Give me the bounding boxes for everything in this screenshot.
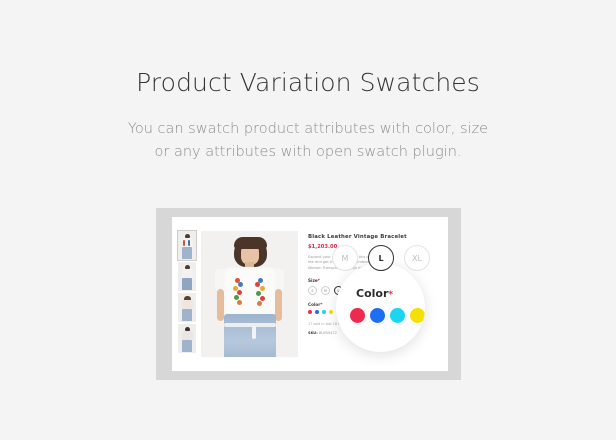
model-arm-right bbox=[275, 289, 282, 321]
thumb-model-jeans-icon bbox=[182, 278, 192, 290]
header: Product Variation Swatches You can swatc… bbox=[0, 0, 616, 164]
color-required-mark: * bbox=[320, 302, 322, 307]
model-hair-front bbox=[234, 237, 267, 249]
thumb-embroidery-icon bbox=[188, 240, 190, 246]
model-tshirt bbox=[223, 267, 277, 316]
thumb-model-jeans-icon bbox=[182, 309, 192, 321]
thumb-embroidery-icon bbox=[183, 240, 185, 246]
color-swatch-blue[interactable] bbox=[315, 310, 319, 314]
magnifier-swatch-cyan[interactable] bbox=[390, 308, 405, 323]
size-bubble-group[interactable]: M L XL bbox=[336, 245, 428, 271]
product-title: Black Leather Vintage Bracelet bbox=[308, 233, 442, 241]
magnifier-swatch-red[interactable] bbox=[350, 308, 365, 323]
subtitle-line-1: You can swatch product attributes with c… bbox=[118, 118, 498, 141]
size-bubble-m[interactable]: M bbox=[332, 245, 358, 271]
page-title: Product Variation Swatches bbox=[0, 0, 616, 98]
page-subtitle: You can swatch product attributes with c… bbox=[118, 98, 498, 164]
tshirt-embroidery-left bbox=[233, 278, 243, 308]
magnifier-swatch-yellow[interactable] bbox=[410, 308, 425, 323]
thumb-model-jeans-icon bbox=[182, 340, 192, 352]
color-swatch-red[interactable] bbox=[308, 310, 312, 314]
model-arm-left bbox=[217, 289, 224, 321]
model-jeans bbox=[224, 314, 276, 357]
model-belt bbox=[224, 323, 276, 327]
thumbnail-item[interactable] bbox=[178, 262, 196, 291]
magnifier-color-label: Color* bbox=[356, 287, 393, 300]
size-required-mark: * bbox=[318, 278, 320, 283]
size-swatch-s[interactable]: S bbox=[308, 286, 317, 295]
product-main-image[interactable] bbox=[201, 231, 298, 357]
magnifier-swatch-blue[interactable] bbox=[370, 308, 385, 323]
color-swatch-magnifier: Color* bbox=[336, 263, 425, 352]
color-swatch-yellow[interactable] bbox=[329, 310, 333, 314]
color-swatch-cyan[interactable] bbox=[322, 310, 326, 314]
thumbnail-item[interactable] bbox=[178, 324, 196, 353]
size-label-text: Size bbox=[308, 278, 318, 283]
size-bubble-xl[interactable]: XL bbox=[404, 245, 430, 271]
subtitle-line-2: or any attributes with open swatch plugi… bbox=[118, 141, 498, 164]
thumb-model-jeans-icon bbox=[182, 247, 192, 259]
magnifier-required-mark: * bbox=[388, 290, 393, 300]
color-label-text: Color bbox=[308, 302, 320, 307]
tshirt-embroidery-right bbox=[255, 278, 265, 308]
size-bubble-l-selected[interactable]: L bbox=[368, 245, 394, 271]
sku-value: BLVB0472 bbox=[319, 331, 337, 335]
thumbnail-item[interactable] bbox=[178, 231, 196, 260]
page-root: Product Variation Swatches You can swatc… bbox=[0, 0, 616, 440]
model-drawstring bbox=[252, 326, 256, 339]
size-swatch-m[interactable]: M bbox=[321, 286, 330, 295]
magnifier-color-text: Color bbox=[356, 287, 388, 300]
magnifier-swatch-row[interactable] bbox=[350, 308, 425, 323]
product-thumbnail-gallery[interactable] bbox=[178, 231, 196, 353]
thumbnail-item[interactable] bbox=[178, 293, 196, 322]
sku-label: SKU: bbox=[308, 331, 318, 335]
